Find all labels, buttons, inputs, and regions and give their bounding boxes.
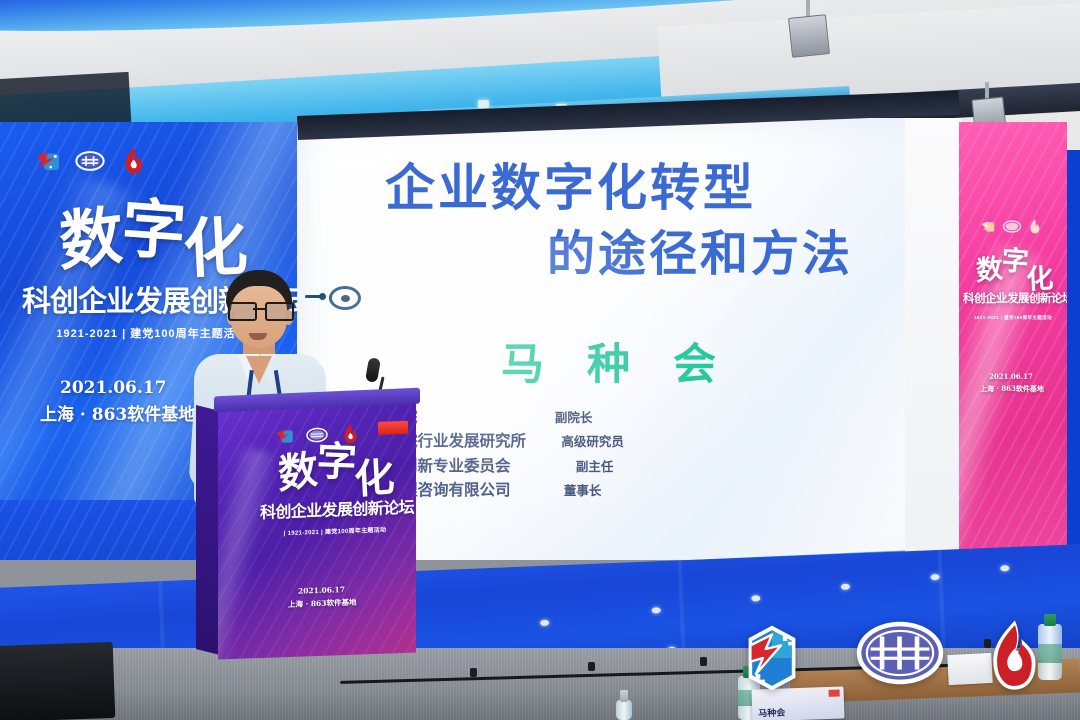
skirt-stud-4 bbox=[841, 584, 850, 590]
cable-clip-2 bbox=[588, 662, 595, 671]
brand-char-2-right: 字 bbox=[1000, 247, 1027, 276]
wall-white-strip bbox=[905, 118, 961, 624]
red-flame-logo-icon-foreground bbox=[984, 618, 1042, 694]
oval-ih-logo-icon-right bbox=[1002, 218, 1022, 235]
brand-char-1: 数 bbox=[58, 204, 122, 276]
brand-char-1-right: 数 bbox=[975, 255, 1001, 285]
oval-ih-logo-icon-foreground bbox=[854, 618, 946, 688]
glasses-lens-left bbox=[228, 302, 257, 321]
right-banner-years-line: 1921-2021 | 建党100周年主题活动 bbox=[974, 315, 1052, 321]
truss-lamp-1 bbox=[478, 100, 489, 108]
skirt-stud-6 bbox=[1000, 565, 1009, 571]
conference-stage-photo: 数字化 科创企业发展创新论坛 1921-2021 | 建党100周年主题活动 2… bbox=[0, 0, 1080, 720]
left-banner-date: 2021.06.17 bbox=[60, 378, 166, 398]
speaker-podium: 数字化 科创企业发展创新论坛 | 1921-2021 | 建党100周年主题活动… bbox=[218, 392, 416, 662]
floor-monitor-speaker bbox=[0, 642, 115, 720]
podium-date: 2021.06.17 bbox=[298, 585, 345, 596]
credential-title-1: 副院长 bbox=[555, 407, 593, 426]
left-banner-location: 上海 · 863软件基地 bbox=[40, 400, 195, 425]
left-banner-sponsor-logos bbox=[32, 146, 148, 176]
slide-title-line-2: 的途径和方法 bbox=[547, 214, 853, 284]
right-banner-sponsor-logos bbox=[979, 218, 1041, 235]
bottle-body-3 bbox=[616, 700, 632, 720]
name-card-text: 马种会 bbox=[758, 705, 785, 719]
cable-clip-1 bbox=[470, 668, 477, 677]
stage-back-wall: 数字化 科创企业发展创新论坛 1921-2021 | 建党100周年主题活动 2… bbox=[0, 118, 1080, 618]
left-banner-brand-chars: 数字化 bbox=[22, 208, 282, 272]
podium-side-panel bbox=[196, 405, 220, 655]
red-blue-angular-logo-icon-foreground bbox=[736, 622, 808, 694]
podium-brand-chars: 数字化 bbox=[260, 449, 410, 494]
skirt-stud-1 bbox=[540, 620, 549, 626]
podium-front-panel: 数字化 科创企业发展创新论坛 | 1921-2021 | 建党100周年主题活动… bbox=[218, 401, 416, 660]
credential-title-3: 副主任 bbox=[576, 456, 614, 475]
right-banner-date: 2021.06.17 bbox=[989, 372, 1033, 381]
brand-char-2: 字 bbox=[119, 197, 185, 265]
slide-speaker-name: 马 种 会 bbox=[501, 330, 730, 392]
podium-red-badge bbox=[378, 421, 408, 435]
red-flame-logo-icon bbox=[118, 146, 148, 176]
slide-title-line-1: 企业数字化转型 bbox=[385, 148, 756, 220]
red-blue-angular-logo-icon bbox=[32, 146, 62, 176]
right-banner-location: 上海 · 863软件基地 bbox=[980, 384, 1044, 394]
podium-brand-char-2: 字 bbox=[315, 442, 356, 483]
right-banner-brand-chars: 数字化 bbox=[963, 257, 1063, 284]
podium-location: 上海 · 863软件基地 bbox=[288, 597, 357, 610]
cable-clip-3 bbox=[700, 657, 707, 666]
skirt-stud-3 bbox=[751, 595, 760, 601]
podium-years-line: | 1921-2021 | 建党100周年主题活动 bbox=[284, 525, 387, 538]
right-banner-brand-mark: 数字化 科创企业发展创新论坛 1921-2021 | 建党100周年主题活动 bbox=[963, 257, 1063, 324]
glasses-lens-right bbox=[265, 302, 294, 321]
foreground-sponsor-logos bbox=[736, 614, 1066, 700]
ceiling-spotlight-1 bbox=[788, 14, 830, 58]
podium-brand-mark: 数字化 科创企业发展创新论坛 | 1921-2021 | 建党100周年主题活动 bbox=[260, 449, 410, 541]
water-bottle-3 bbox=[616, 690, 632, 720]
speaker-glasses bbox=[228, 302, 290, 317]
skirt-stud-2 bbox=[652, 607, 661, 613]
credential-title-4: 董事长 bbox=[564, 480, 602, 499]
glasses-bridge bbox=[253, 308, 265, 310]
podium-brand-char-1: 数 bbox=[277, 450, 316, 496]
bottle-cap-3 bbox=[620, 690, 628, 702]
brand-char-3-right: 化 bbox=[1025, 265, 1051, 293]
red-blue-angular-logo-icon-right bbox=[979, 218, 996, 235]
podium-brand-char-3: 化 bbox=[353, 457, 393, 500]
red-blue-angular-logo-icon-podium bbox=[273, 425, 295, 448]
red-flame-logo-icon-right bbox=[1028, 218, 1041, 235]
credential-title-2: 高级研究员 bbox=[561, 431, 624, 450]
oval-ih-logo-icon bbox=[75, 146, 105, 176]
